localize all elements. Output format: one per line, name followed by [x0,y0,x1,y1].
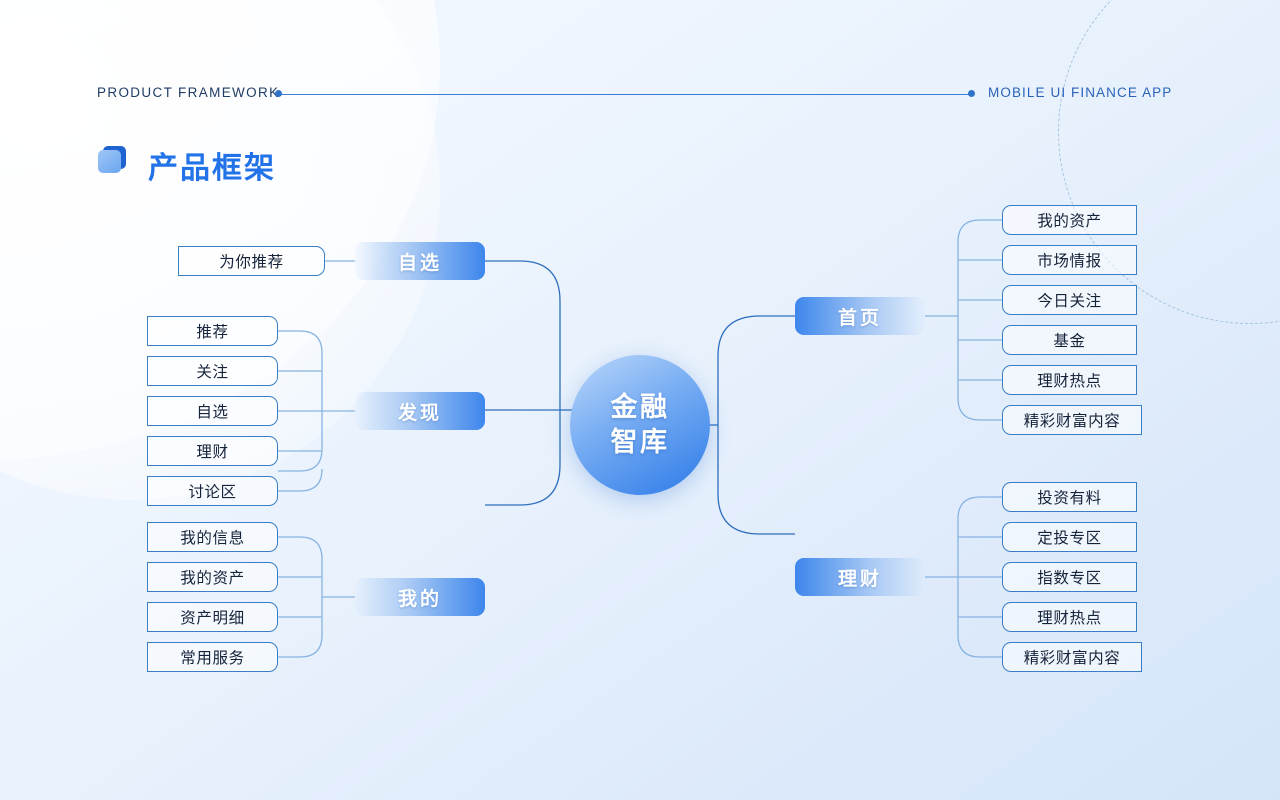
leaf-node-shouye-wodezichan[interactable]: 我的资产 [1002,205,1137,235]
branch-node-faxian[interactable]: 发现 [355,392,485,430]
mindmap-canvas: PRODUCT FRAMEWORK MOBILE UI FINANCE APP … [0,0,1280,800]
leaf-node-guanzhu[interactable]: 关注 [147,356,278,386]
leaf-node-licai[interactable]: 理财 [147,436,278,466]
root-line-1: 金融 [611,392,670,422]
leaf-node-zixuan[interactable]: 自选 [147,396,278,426]
leaf-node-changyongfuwu[interactable]: 常用服务 [147,642,278,672]
branch-node-shouye[interactable]: 首页 [795,297,925,335]
branch-node-zixuan[interactable]: 自选 [355,242,485,280]
leaf-node-shichangqingbao[interactable]: 市场情报 [1002,245,1137,275]
branch-node-wode[interactable]: 我的 [355,578,485,616]
root-node-label: 金融 智库 [611,390,670,459]
leaf-node-taolunqu[interactable]: 讨论区 [147,476,278,506]
leaf-node-licai-licairedian[interactable]: 理财热点 [1002,602,1137,632]
leaf-node-zichanmingxi[interactable]: 资产明细 [147,602,278,632]
leaf-node-weinituijian[interactable]: 为你推荐 [178,246,325,276]
root-line-2: 智库 [611,427,670,457]
leaf-node-shouye-licairedian[interactable]: 理财热点 [1002,365,1137,395]
leaf-node-tuijian[interactable]: 推荐 [147,316,278,346]
leaf-node-wodexinxi[interactable]: 我的信息 [147,522,278,552]
branch-node-licai[interactable]: 理财 [795,558,925,596]
leaf-node-jijin[interactable]: 基金 [1002,325,1137,355]
root-node[interactable]: 金融 智库 [570,355,710,495]
leaf-node-dingtouzhuanqu[interactable]: 定投专区 [1002,522,1137,552]
leaf-node-jinriguanzhu[interactable]: 今日关注 [1002,285,1137,315]
leaf-node-zhishuzhuanqu[interactable]: 指数专区 [1002,562,1137,592]
leaf-node-wodezichan[interactable]: 我的资产 [147,562,278,592]
leaf-node-touziyouliao[interactable]: 投资有料 [1002,482,1137,512]
leaf-node-licai-jingcaicaifuneirong[interactable]: 精彩财富内容 [1002,642,1142,672]
leaf-node-shouye-jingcaicaifuneirong[interactable]: 精彩财富内容 [1002,405,1142,435]
